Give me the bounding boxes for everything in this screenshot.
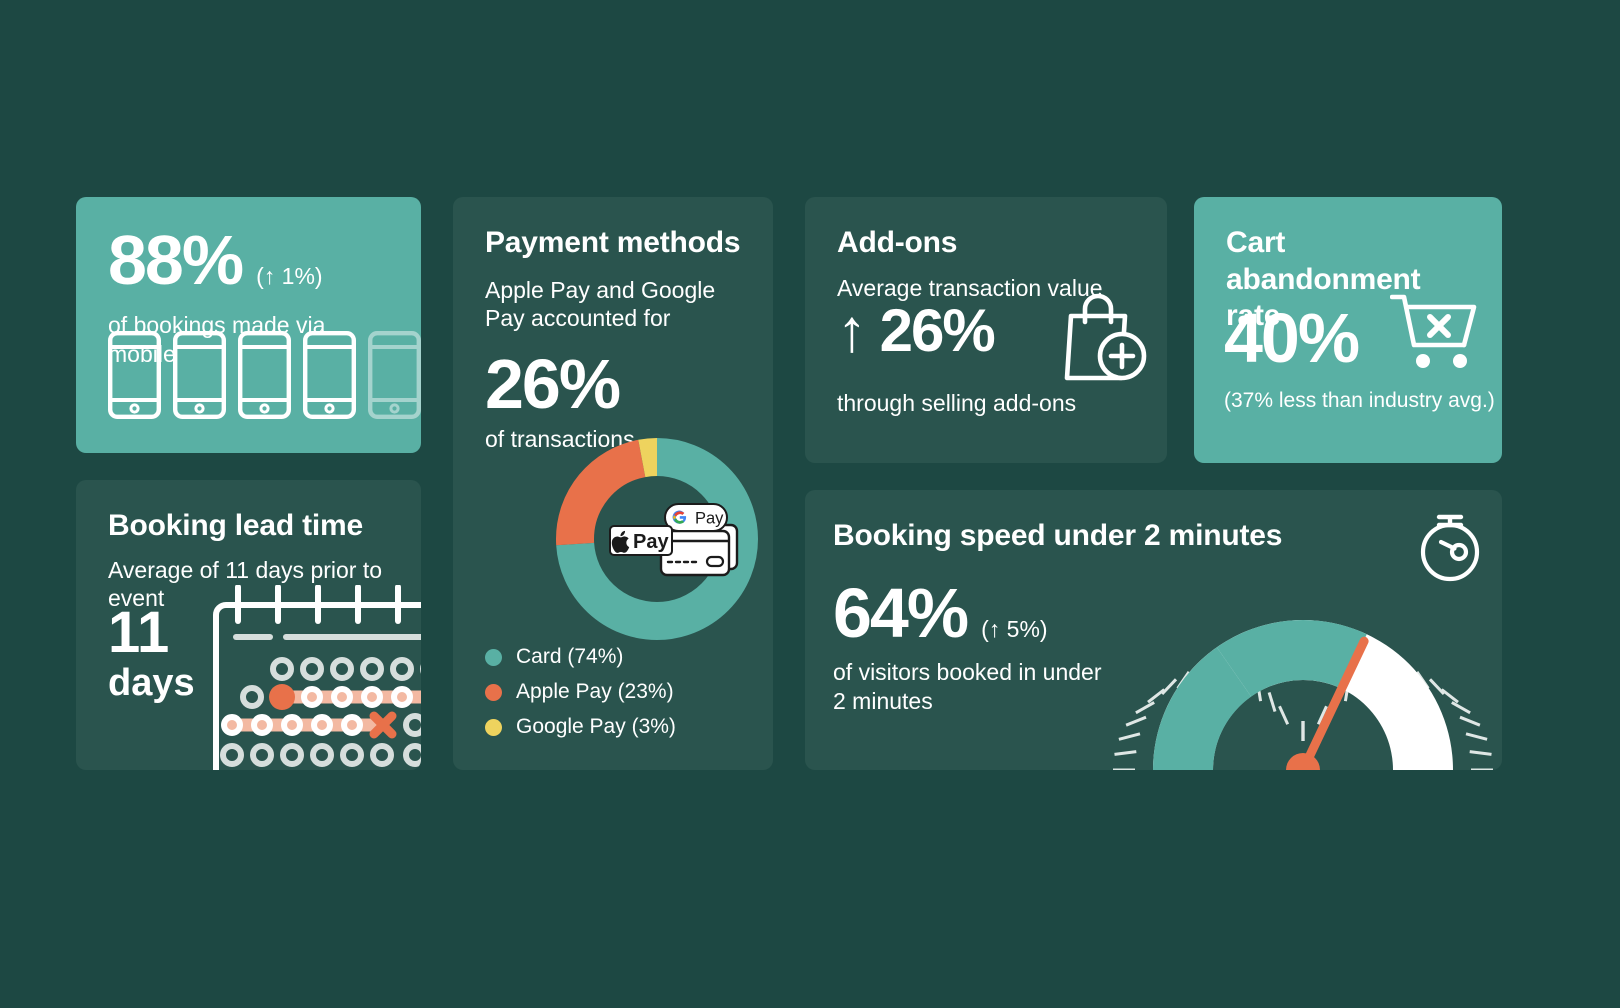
payment-legend: Card (74%) Apple Pay (23%) Google Pay (3… (485, 645, 676, 750)
calendar-icon (210, 585, 421, 770)
payment-title: Payment methods (485, 225, 749, 262)
cart-value: 40% (1224, 299, 1358, 377)
speed-delta: (↑ 5%) (981, 616, 1047, 643)
cart-cross-svg (1390, 293, 1480, 373)
payment-percent-block: 26% (485, 349, 619, 419)
card-addons-content: Add-ons Average transaction value (837, 225, 1143, 302)
card-cart-abandonment: Cart abandonment rate 40% (37% less than… (1194, 197, 1502, 463)
mobile-delta: (↑ 1%) (256, 263, 322, 290)
payment-percent-value: 26% (485, 345, 619, 423)
card-payment-methods: Payment methods Apple Pay and Google Pay… (453, 197, 773, 770)
card-booking-speed: Booking speed under 2 minutes 64% (↑ 5%)… (805, 490, 1502, 770)
addons-caption: through selling add-ons (837, 390, 1076, 416)
legend-item: Google Pay (3%) (485, 715, 676, 739)
legend-label-apple-pay: Apple Pay (23%) (516, 680, 674, 704)
apple-pay-badge: Pay (610, 526, 672, 555)
legend-label-card: Card (74%) (516, 645, 623, 669)
card-pay-content: Payment methods Apple Pay and Google Pay… (485, 225, 749, 333)
calendar-illustration (210, 585, 421, 770)
gauge-needle-pivot (1286, 753, 1320, 770)
legend-item: Card (74%) (485, 645, 676, 669)
lead-number-block: 11 days (108, 604, 195, 706)
mobile-value-row: 88% (↑ 1%) (108, 225, 397, 295)
addons-value-block: ↑ 26% (837, 301, 994, 361)
svg-text:Pay: Pay (695, 510, 724, 528)
legend-item: Apple Pay (23%) (485, 680, 676, 704)
phone-illustration-group (108, 331, 421, 419)
mobile-percent-value: 88% (108, 225, 242, 295)
legend-label-google-pay: Google Pay (3%) (516, 715, 676, 739)
cart-caption: (37% less than industry avg.) (1224, 389, 1495, 413)
stopwatch-icon (1413, 504, 1487, 589)
payment-subtitle: Apple Pay and Google Pay accounted for (485, 276, 725, 333)
speed-caption-block: of visitors booked in under 2 minutes (833, 658, 1103, 715)
lead-days-unit: days (108, 662, 195, 706)
addons-value: ↑ 26% (837, 297, 994, 364)
speed-caption: of visitors booked in under 2 minutes (833, 659, 1102, 714)
shopping-bag-plus-svg (1063, 292, 1147, 384)
addons-title: Add-ons (837, 225, 1143, 262)
calendar-x-marker (374, 716, 392, 734)
legend-swatch-apple-pay (485, 684, 502, 701)
speed-value-row: 64% (↑ 5%) (833, 578, 1048, 648)
payment-logos-icon: Pay Pay (609, 503, 741, 581)
speed-title: Booking speed under 2 minutes (833, 518, 1478, 555)
cart-value-block: 40% (1224, 303, 1358, 373)
card-mobile-bookings: 88% (↑ 1%) of bookings made via mobile (76, 197, 421, 453)
infographic-canvas: 88% (↑ 1%) of bookings made via mobile (0, 0, 1620, 1008)
legend-swatch-google-pay (485, 719, 502, 736)
payment-badge-group: Pay Pay (609, 503, 729, 573)
lead-days-number: 11 (108, 604, 195, 662)
card-addons: Add-ons Average transaction value ↑ 26% … (805, 197, 1167, 463)
card-booking-lead-time: Booking lead time Average of 11 days pri… (76, 480, 421, 770)
phone-icon-faded (368, 331, 421, 419)
google-pay-badge: Pay (665, 504, 727, 531)
phone-icon (238, 331, 291, 419)
addons-caption-block: through selling add-ons (837, 389, 1076, 418)
stopwatch-svg (1413, 504, 1487, 584)
shopping-bag-plus-icon (1063, 292, 1147, 389)
phone-icon (108, 331, 161, 419)
svg-text:Pay: Pay (633, 531, 669, 553)
legend-swatch-card (485, 649, 502, 666)
lead-title: Booking lead time (108, 508, 397, 545)
phone-icon (173, 331, 226, 419)
phone-icon (303, 331, 356, 419)
card-speed-content: Booking speed under 2 minutes (833, 518, 1478, 555)
cart-cross-icon (1390, 293, 1480, 378)
speed-value: 64% (833, 578, 967, 648)
